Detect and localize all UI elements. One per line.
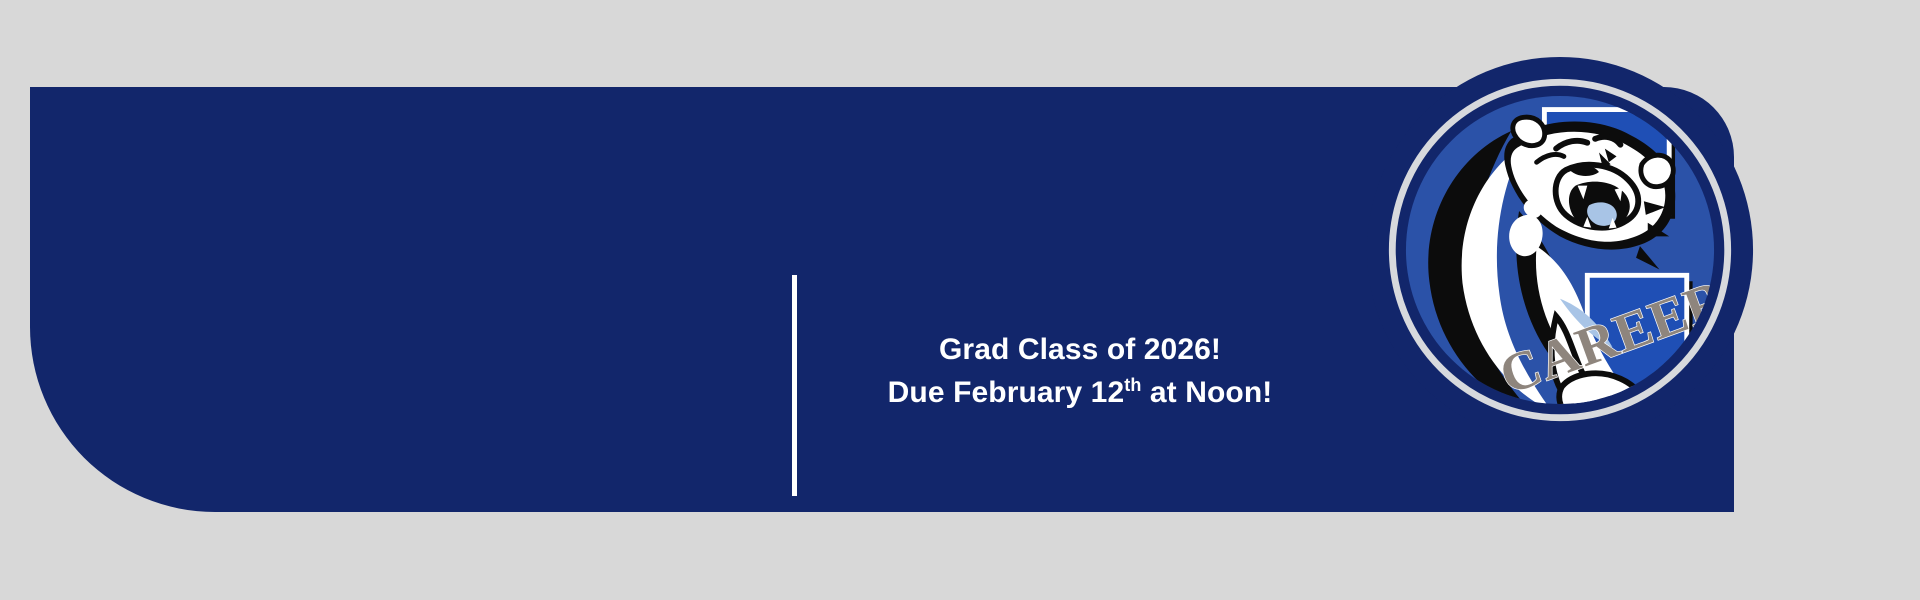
careers-logo: CAREERS (1365, 55, 1755, 445)
headline-block: Grad Class of 2026! Due February 12th at… (730, 329, 1430, 414)
due-date-text: Due February 12 (888, 376, 1125, 409)
ordinal-suffix: th (1124, 375, 1141, 395)
headline-line-2: Due February 12th at Noon! (730, 372, 1430, 415)
banner-stage: Grad Class of 2026! Due February 12th at… (0, 0, 1920, 600)
careers-logo-svg: CAREERS (1365, 55, 1755, 445)
due-time-text: at Noon! (1141, 376, 1272, 409)
headline-line-1: Grad Class of 2026! (730, 329, 1430, 372)
